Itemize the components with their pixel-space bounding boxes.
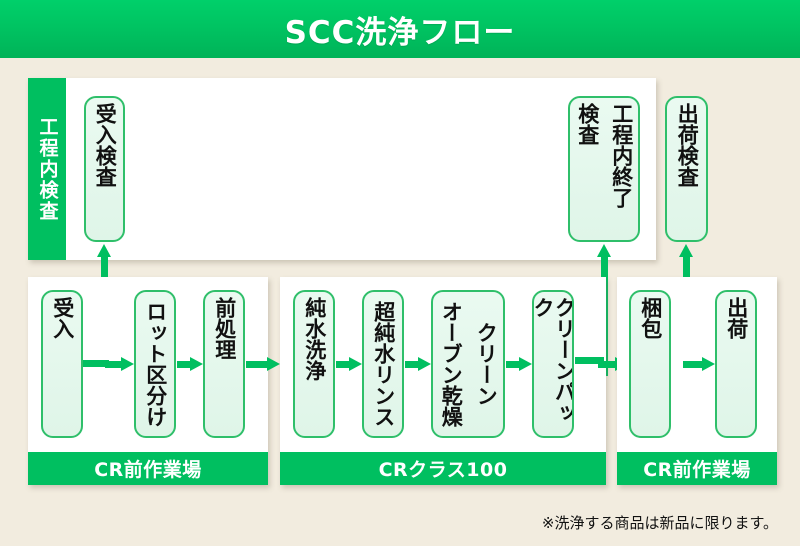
box-pure-water-cleaning-text: 純水洗浄: [303, 292, 324, 436]
footnote: ※洗浄する商品は新品に限ります。: [542, 512, 778, 533]
box-lot-sorting[interactable]: ロット区分け: [134, 290, 176, 438]
inspection-sidebar-label: 工程内検査: [28, 78, 66, 260]
box-process-end-inspection-col1: 工程内終了: [604, 98, 638, 240]
box-shipping-inspection[interactable]: 出荷検査: [665, 96, 708, 242]
box-ultrapure-water-rinse[interactable]: 超純水リンス: [362, 290, 404, 438]
box-packing-text: 梱包: [639, 292, 660, 436]
title-bar: SCC洗浄フロー: [0, 0, 800, 58]
box-packing[interactable]: 梱包: [629, 290, 671, 438]
group-footer-pre-cr-workspace-2: CR前作業場: [617, 452, 777, 485]
box-clean-oven-drying[interactable]: クリーン オーブン乾燥: [431, 290, 505, 438]
box-process-end-inspection-col2: 検査: [570, 98, 604, 240]
arrow-ultrapure-rinse-to-clean-oven: [405, 357, 431, 371]
box-process-end-inspection[interactable]: 工程内終了 検査: [568, 96, 640, 242]
group-footer-pre-cr-workspace-1: CR前作業場: [28, 452, 268, 485]
box-shipping-inspection-text: 出荷検査: [676, 98, 697, 240]
arrow-lot-sorting-to-pre-treatment: [177, 357, 203, 371]
arrow-packing-to-shipping: [683, 357, 715, 371]
arrow-clean-oven-to-clean-pack: [506, 357, 532, 371]
box-receiving[interactable]: 受入: [41, 290, 83, 438]
box-pre-treatment-text: 前処理: [213, 292, 234, 436]
group-footer-cr-class-100: CRクラス100: [280, 452, 606, 485]
page-title: SCC洗浄フロー: [285, 7, 516, 52]
box-clean-oven-drying-col2: オーブン乾燥: [433, 292, 468, 436]
box-ultrapure-water-rinse-text: 超純水リンス: [372, 292, 393, 436]
box-clean-pack-text: クリーンパック: [532, 292, 574, 436]
box-lot-sorting-text: ロット区分け: [144, 292, 165, 436]
box-shipping-text: 出荷: [725, 292, 746, 436]
box-pure-water-cleaning[interactable]: 純水洗浄: [293, 290, 335, 438]
box-clean-pack[interactable]: クリーンパック: [532, 290, 574, 438]
box-clean-oven-drying-col1: クリーン: [468, 292, 503, 436]
box-receiving-inspection-text: 受入検査: [94, 98, 115, 240]
box-receiving-text: 受入: [51, 292, 72, 436]
arrow-pre-treatment-to-pure-water: [246, 357, 280, 371]
arrow-receiving-to-lot-sorting: [105, 357, 134, 371]
box-pre-treatment[interactable]: 前処理: [203, 290, 245, 438]
box-shipping[interactable]: 出荷: [715, 290, 757, 438]
inspection-sidebar-text: 工程内検査: [38, 117, 57, 222]
arrow-pure-water-to-ultrapure-rinse: [336, 357, 362, 371]
box-receiving-inspection[interactable]: 受入検査: [84, 96, 125, 242]
